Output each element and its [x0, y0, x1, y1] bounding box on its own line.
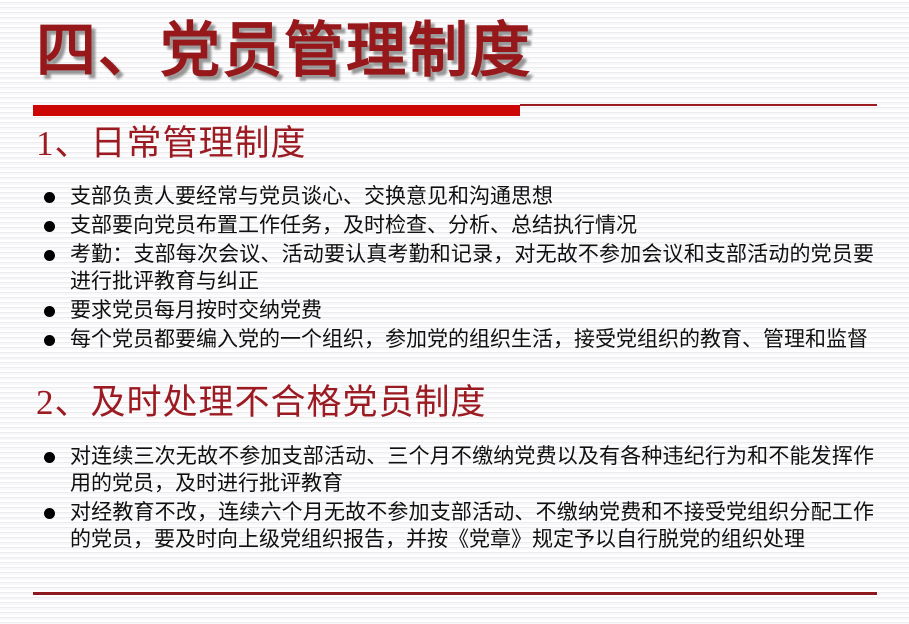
list-item-text: 支部要向党员布置工作任务，及时检查、分析、总结执行情况: [70, 212, 874, 239]
list-item-text: 考勤：支部每次会议、活动要认真考勤和记录，对无故不参加会议和支部活动的党员要进行…: [70, 241, 874, 295]
list-item: 支部要向党员布置工作任务，及时检查、分析、总结执行情况: [44, 212, 874, 239]
list-item-text: 每个党员都要编入党的一个组织，参加党的组织生活，接受党组织的教育、管理和监督: [70, 326, 874, 353]
bullet-circle-icon: [44, 499, 70, 519]
bullet-circle-icon: [44, 212, 70, 232]
section-heading-unqualified-member-handling: 2、及时处理不合格党员制度: [36, 381, 487, 425]
list-item: 对连续三次无故不参加支部活动、三个月不缴纳党费以及有各种违纪行为和不能发挥作用的…: [44, 443, 874, 497]
bullet-circle-icon: [44, 326, 70, 346]
list-item: 考勤：支部每次会议、活动要认真考勤和记录，对无故不参加会议和支部活动的党员要进行…: [44, 241, 874, 295]
title-divider-thick-bar: [33, 105, 520, 116]
bottom-divider: [33, 592, 877, 595]
list-item-text: 要求党员每月按时交纳党费: [70, 297, 874, 324]
title-divider-thin-rule: [520, 104, 877, 106]
list-item: 要求党员每月按时交纳党费: [44, 297, 874, 324]
list-item: 每个党员都要编入党的一个组织，参加党的组织生活，接受党组织的教育、管理和监督: [44, 326, 874, 353]
title-divider: [33, 100, 877, 116]
bullet-circle-icon: [44, 443, 70, 463]
bullet-list-section-2: 对连续三次无故不参加支部活动、三个月不缴纳党费以及有各种违纪行为和不能发挥作用的…: [44, 443, 874, 555]
page-title: 四、党员管理制度: [36, 13, 532, 89]
bullet-list-section-1: 支部负责人要经常与党员谈心、交换意见和沟通思想 支部要向党员布置工作任务，及时检…: [44, 183, 874, 355]
list-item: 对经教育不改，连续六个月无故不参加支部活动、不缴纳党费和不接受党组织分配工作的党…: [44, 499, 874, 553]
list-item-text: 支部负责人要经常与党员谈心、交换意见和沟通思想: [70, 183, 874, 210]
bullet-circle-icon: [44, 183, 70, 203]
bullet-circle-icon: [44, 241, 70, 261]
list-item-text: 对经教育不改，连续六个月无故不参加支部活动、不缴纳党费和不接受党组织分配工作的党…: [70, 499, 874, 553]
section-heading-daily-management: 1、日常管理制度: [36, 122, 307, 166]
list-item-text: 对连续三次无故不参加支部活动、三个月不缴纳党费以及有各种违纪行为和不能发挥作用的…: [70, 443, 874, 497]
list-item: 支部负责人要经常与党员谈心、交换意见和沟通思想: [44, 183, 874, 210]
presentation-slide: 四、党员管理制度 1、日常管理制度 支部负责人要经常与党员谈心、交换意见和沟通思…: [0, 0, 909, 624]
bullet-circle-icon: [44, 297, 70, 317]
